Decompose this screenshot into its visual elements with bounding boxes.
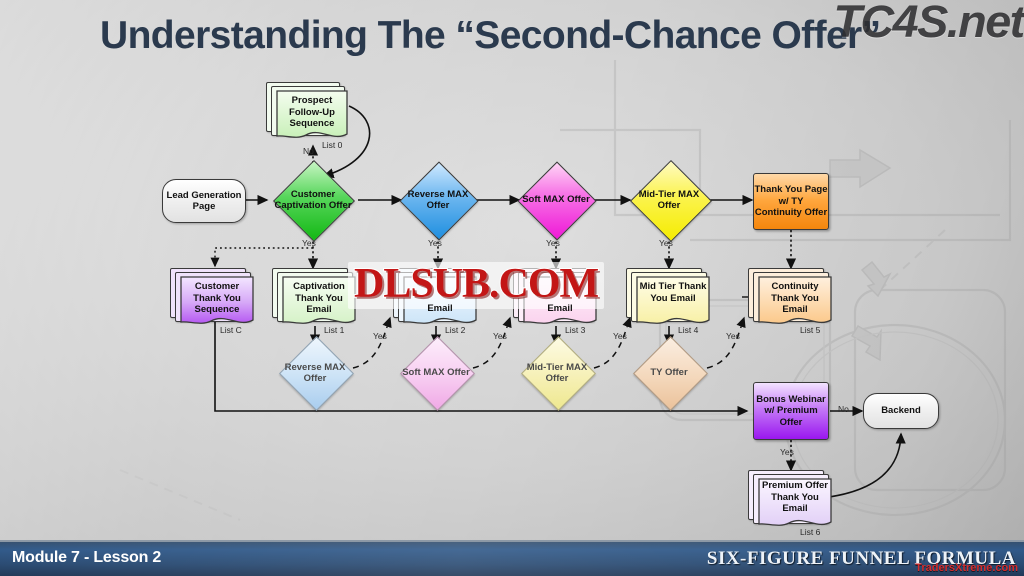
node-thank-you-page-continuity[interactable]: Thank You Page w/ TY Continuity Offer [753, 173, 829, 230]
node-label: Premium Offer Thank You Email [758, 480, 832, 515]
edge-label-yes-midtier: Yes [659, 238, 673, 248]
node-soft-max-offer[interactable]: Soft MAX Offer [518, 168, 594, 232]
node-soft-max-offer-alt[interactable]: Soft MAX Offer [398, 344, 474, 402]
list-tag-4: List 4 [678, 325, 698, 335]
watermark-tradersxtreme: TradersXtreme.com [915, 562, 1018, 574]
node-ty-offer[interactable]: TY Offer [629, 344, 709, 402]
node-reverse-max-offer-alt[interactable]: Reverse MAX Offer [277, 344, 353, 402]
node-label: Bonus Webinar w/ Premium Offer [754, 394, 828, 429]
list-tag-6: List 6 [800, 527, 820, 537]
node-label: Prospect Follow-Up Sequence [276, 95, 348, 130]
node-label: Mid Tier Thank You Email [636, 281, 710, 304]
node-label: Mid-Tier MAX Offer [629, 168, 709, 232]
node-label: Thank You Page w/ TY Continuity Offer [754, 184, 828, 219]
edge-label-yes-reverse: Yes [428, 238, 442, 248]
doc-sheet-front: Customer Thank You Sequence [180, 276, 254, 326]
node-label: Captivation Thank You Email [282, 281, 356, 316]
slide-canvas: Understanding The “Second-Chance Offer” … [0, 0, 1024, 576]
edge-label-yes-captivation: Yes [302, 238, 316, 248]
list-tag-c: List C [220, 325, 242, 335]
watermark-tc4s: TC4S.net [833, 0, 1023, 48]
node-continuity-thank-you-email[interactable]: Continuity Thank You Email List 5 [748, 268, 834, 326]
node-premium-offer-thank-you-email[interactable]: Premium Offer Thank You Email List 6 [748, 470, 834, 528]
node-customer-thank-you-sequence[interactable]: Customer Thank You Sequence List C [170, 268, 256, 326]
node-label: Customer Captivation Offer [268, 168, 358, 232]
node-bonus-webinar-premium-offer[interactable]: Bonus Webinar w/ Premium Offer [753, 382, 829, 440]
doc-sheet-front: Mid Tier Thank You Email [636, 276, 710, 326]
edge-label-yes-alt-4: Yes [726, 331, 740, 341]
node-label: Reverse MAX Offer [277, 344, 353, 402]
node-label: Backend [881, 405, 921, 417]
node-label: Soft MAX Offer [398, 344, 474, 402]
node-mid-tier-max-offer-alt[interactable]: Mid-Tier MAX Offer [518, 344, 596, 402]
list-tag-2: List 2 [445, 325, 465, 335]
node-mid-tier-max-offer[interactable]: Mid-Tier MAX Offer [629, 168, 709, 232]
edge-label-yes-alt-2: Yes [493, 331, 507, 341]
node-backend[interactable]: Backend [863, 393, 939, 429]
node-reverse-max-offer[interactable]: Reverse MAX Offer [400, 168, 476, 232]
doc-sheet-front: Premium Offer Thank You Email [758, 478, 832, 528]
edge-label-no-webinar: No [838, 404, 849, 414]
node-label: Customer Thank You Sequence [180, 281, 254, 316]
doc-sheet-front: Prospect Follow-Up Sequence [276, 90, 348, 140]
node-label: Email [403, 303, 477, 315]
watermark-dlsub: DLSUB.COM [348, 262, 604, 309]
node-label: Soft MAX Offer [518, 168, 594, 232]
node-customer-captivation-offer[interactable]: Customer Captivation Offer [268, 168, 358, 232]
node-label: Mid-Tier MAX Offer [518, 344, 596, 402]
node-lead-generation-page[interactable]: Lead Generation Page [162, 179, 246, 223]
node-label: Reverse MAX Offer [400, 168, 476, 232]
list-tag-1: List 1 [324, 325, 344, 335]
list-tag-5: List 5 [800, 325, 820, 335]
doc-sheet-front: Captivation Thank You Email [282, 276, 356, 326]
node-label: TY Offer [629, 344, 709, 402]
edge-label-no-captivation: No [303, 146, 314, 156]
list-tag-0: List 0 [322, 140, 342, 150]
list-tag-3: List 3 [565, 325, 585, 335]
edge-label-yes-alt-1: Yes [373, 331, 387, 341]
footer-bar: Module 7 - Lesson 2 SIX-FIGURE FUNNEL FO… [0, 540, 1024, 576]
node-mid-tier-thank-you-email[interactable]: Mid Tier Thank You Email List 4 [626, 268, 712, 326]
edge-label-yes-alt-3: Yes [613, 331, 627, 341]
slide-title: Understanding The “Second-Chance Offer” [100, 14, 930, 58]
edge-label-yes-soft: Yes [546, 238, 560, 248]
edge-label-yes-webinar: Yes [780, 447, 794, 457]
footer-module-lesson: Module 7 - Lesson 2 [12, 549, 161, 567]
doc-sheet-front: Continuity Thank You Email [758, 276, 832, 326]
node-prospect-follow-up-sequence[interactable]: Prospect Follow-Up Sequence List 0 [266, 82, 348, 140]
node-label: Lead Generation Page [163, 190, 245, 213]
node-captivation-thank-you-email[interactable]: Captivation Thank You Email List 1 [272, 268, 358, 326]
node-label: Continuity Thank You Email [758, 281, 832, 316]
node-label: Email [523, 303, 597, 315]
